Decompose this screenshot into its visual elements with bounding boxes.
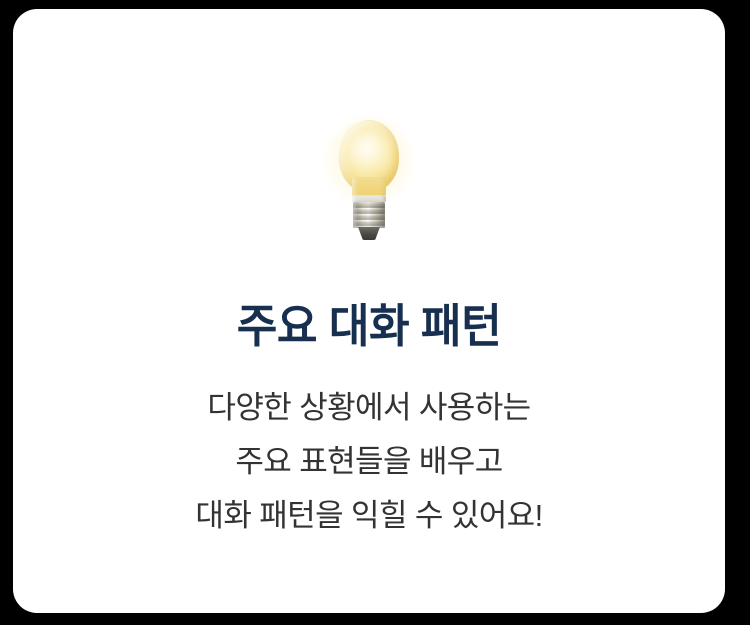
lightbulb-contact-tip — [358, 227, 380, 240]
lightbulb-screw-base — [353, 202, 385, 228]
lightbulb-icon — [330, 111, 408, 251]
info-card: 주요 대화 패턴 다양한 상황에서 사용하는 주요 표현들을 배우고 대화 패턴… — [13, 9, 725, 613]
description-line-1: 다양한 상황에서 사용하는 — [13, 381, 725, 435]
description-line-2: 주요 표현들을 배우고 — [13, 435, 725, 489]
page-title: 주요 대화 패턴 — [27, 298, 711, 354]
page-root: 주요 대화 패턴 다양한 상황에서 사용하는 주요 표현들을 배우고 대화 패턴… — [0, 0, 750, 625]
description-line-3: 대화 패턴을 익힐 수 있어요! — [13, 489, 725, 543]
illustration-area — [13, 111, 725, 251]
description-text: 다양한 상황에서 사용하는 주요 표현들을 배우고 대화 패턴을 익힐 수 있어… — [13, 381, 725, 543]
